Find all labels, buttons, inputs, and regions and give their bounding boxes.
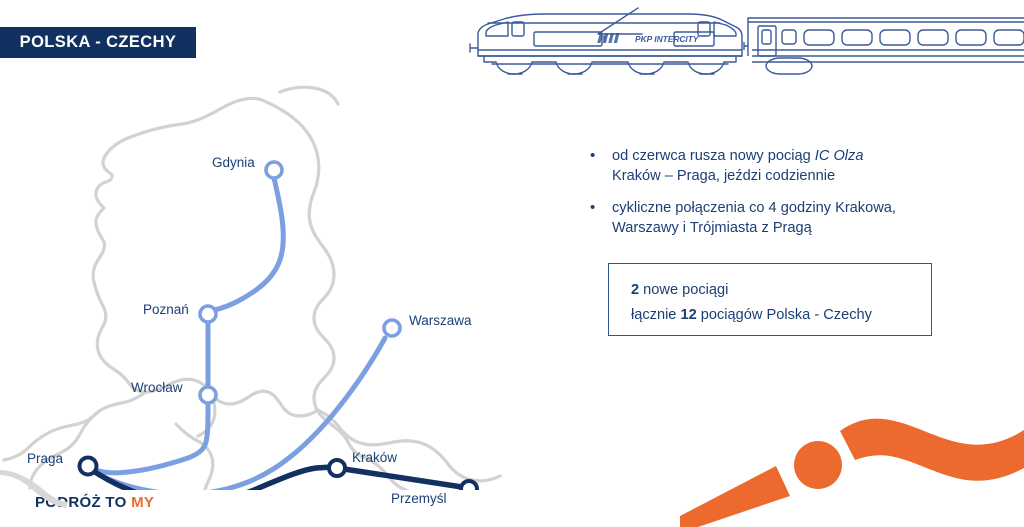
title-banner: POLSKA - CZECHY [0, 27, 196, 58]
city-node-wroclaw[interactable] [200, 387, 216, 403]
city-node-krakow[interactable] [329, 460, 345, 476]
orange-diagonal-bar [680, 466, 790, 527]
city-node-poznan[interactable] [200, 306, 216, 322]
cab-window-right-2 [698, 22, 710, 36]
bullet-text: cykliczne połączenia co 4 godziny Krakow… [612, 198, 896, 238]
carriage-window [880, 30, 910, 45]
bullet-marker-icon: • [590, 146, 612, 186]
city-label-przemysl: Przemyśl [391, 491, 447, 506]
carriage-door-window [762, 30, 771, 44]
carriage-window [804, 30, 834, 45]
orange-wave-ribbon [840, 419, 1024, 481]
carriage-window-small [782, 30, 796, 44]
list-item: • cykliczne połączenia co 4 godziny Krak… [590, 198, 970, 238]
carriage-window [994, 30, 1024, 45]
bullet-line1-emphasis: IC Olza [815, 148, 864, 164]
footer-slogan-orange: MY [131, 494, 154, 511]
summary-line-1-text: nowe pociągi [639, 282, 728, 298]
page-title: POLSKA - CZECHY [20, 33, 177, 52]
city-node-praga[interactable] [80, 458, 97, 475]
cab-window-right [714, 22, 736, 36]
list-item: • od czerwca rusza nowy pociąg IC OlzaKr… [590, 146, 970, 186]
summary-line-2: łącznie 12 pociągów Polska - Czechy [631, 303, 931, 328]
cab-window-left-2 [512, 22, 524, 36]
city-label-warszawa: Warszawa [409, 313, 472, 328]
orange-circle [794, 441, 842, 489]
orange-decoration [680, 398, 1024, 527]
bullet-text: od czerwca rusza nowy pociąg IC OlzaKrak… [612, 146, 863, 186]
route-map: Gdynia Poznań Wrocław Warszawa Praga Kra… [0, 70, 540, 490]
passenger-carriage [744, 18, 1024, 74]
city-label-praga: Praga [27, 451, 63, 466]
summary-count-total-trains: 12 [680, 307, 696, 323]
bullet-line2: Kraków – Praga, jeździ codziennie [612, 168, 835, 184]
route-line-gdynia-poznan [208, 178, 283, 312]
country-outline [4, 87, 500, 490]
locomotive-brand-mark: PKP INTERCITY [597, 33, 700, 44]
bullet-line1-pre: od czerwca rusza nowy pociąg [612, 148, 815, 164]
carriage-window [956, 30, 986, 45]
bullet-marker-icon: • [590, 198, 612, 238]
city-node-gdynia[interactable] [266, 162, 282, 178]
city-label-wroclaw: Wrocław [131, 380, 183, 395]
route-line-krakow-przemysl [344, 469, 462, 487]
summary-count-new-trains: 2 [631, 282, 639, 298]
summary-line-1: 2 nowe pociągi [631, 278, 931, 303]
grey-swoosh-decoration [0, 468, 70, 508]
carriage-bogie [766, 58, 812, 74]
bullet-list: • od czerwca rusza nowy pociąg IC OlzaKr… [590, 146, 970, 250]
city-label-poznan: Poznań [143, 302, 189, 317]
carriage-window [842, 30, 872, 45]
bullet-line1-pre: cykliczne połączenia co 4 godziny Krakow… [612, 200, 896, 216]
city-node-przemysl[interactable] [461, 481, 477, 490]
bullet-line2: Warszawy i Trójmiasta z Pragą [612, 220, 812, 236]
slide-canvas: POLSKA - CZECHY [0, 0, 1024, 527]
summary-line-2-pre: łącznie [631, 307, 680, 323]
summary-box: 2 nowe pociągi łącznie 12 pociągów Polsk… [608, 263, 932, 336]
side-panel-left [534, 32, 602, 46]
city-label-gdynia: Gdynia [212, 155, 255, 170]
city-node-warszawa[interactable] [384, 320, 400, 336]
city-label-krakow: Kraków [352, 450, 397, 465]
locomotive-brand-text: PKP INTERCITY [635, 34, 700, 44]
summary-line-2-text: pociągów Polska - Czechy [697, 307, 872, 323]
carriage-window [918, 30, 948, 45]
